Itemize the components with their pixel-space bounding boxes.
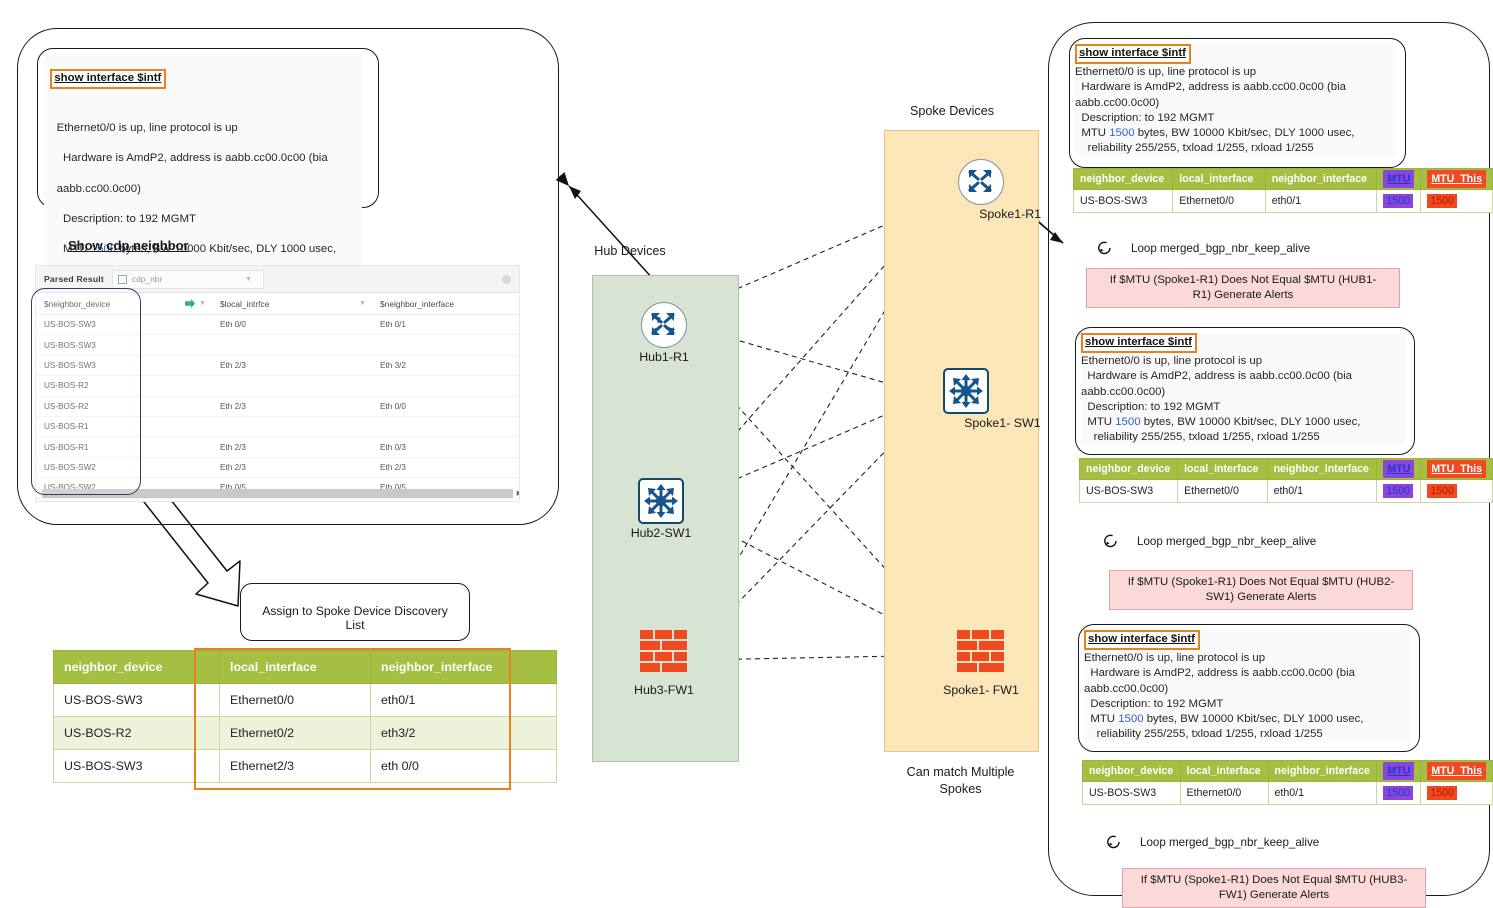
cli-line-4: Description: to 192 MGMT — [57, 213, 196, 225]
parsed-col-neighbor-interface[interactable]: $neighbor_interface ▼ — [372, 299, 520, 309]
th-neighbor-interface: neighbor_interface — [371, 651, 557, 684]
parsed-cell: Eth 2/3 — [212, 361, 372, 370]
cli-command-right[interactable]: show interface $intf — [1081, 333, 1197, 353]
parsed-cell: Eth 2/3 — [212, 463, 372, 472]
loop-icon — [1095, 238, 1115, 258]
td-mtu-this: 1500 — [1421, 782, 1493, 805]
chevron-down-icon[interactable]: ▼ — [359, 300, 366, 307]
mtu-comparison-table: neighbor_devicelocal_interfaceneighbor_i… — [1073, 168, 1493, 213]
table-header-row: neighbor_devicelocal_interfaceneighbor_i… — [1080, 459, 1493, 480]
parsed-cell: Eth 2/3 — [212, 402, 372, 411]
node-hub2-sw1[interactable]: Hub2-SW1 — [638, 478, 684, 524]
parsed-col-label: $local_intrfce — [220, 299, 355, 309]
alert-line-2: FW1) Generate Alerts — [1219, 889, 1329, 901]
cli-mtu-value: 1500 — [1115, 416, 1140, 428]
spoke-note-line1: Can match Multiple — [884, 765, 1037, 779]
td-mtu: 1500 — [1377, 480, 1421, 503]
parsed-column-highlight — [31, 288, 141, 495]
th-mtu-this: MTU_This — [1421, 761, 1493, 782]
node-hub1-r1[interactable]: Hub1-R1 — [641, 302, 687, 348]
parsed-cell: Eth 2/3 — [212, 443, 372, 452]
cli-body: Ethernet0/0 is up, line protocol is up H… — [1081, 354, 1405, 445]
parsed-cell: Eth 0/0 — [372, 402, 520, 411]
cli-output-right: show interface $intfEthernet0/0 is up, l… — [1081, 333, 1405, 445]
table-cell: US-BOS-SW3 — [1083, 782, 1181, 805]
td-mtu-this: 1500 — [1421, 190, 1493, 213]
th-local-interface: local_interface — [1173, 169, 1265, 190]
table-cell: eth0/1 — [371, 684, 557, 717]
parsed-cell: Eth 0/0 — [212, 320, 372, 329]
cli-command-left[interactable]: show interface $intf — [50, 69, 166, 89]
cli-line-3: aabb.cc00.0c00) — [57, 183, 141, 195]
table-cell: US-BOS-SW3 — [54, 684, 220, 717]
parsed-result-select[interactable]: cdp_nbr ▼ — [112, 270, 264, 289]
th-neighbor-device: neighbor_device — [54, 651, 220, 684]
node-label: Spoke1- FW1 — [943, 683, 1019, 697]
mtu-mismatch-alert: If $MTU (Spoke1-R1) Does Not Equal $MTU … — [1109, 570, 1413, 610]
td-mtu-this: 1500 — [1421, 480, 1493, 503]
cli-line-1: Ethernet0/0 is up, line protocol is up — [57, 122, 238, 134]
alert-line-1: If $MTU (Spoke1-R1) Does Not Equal $MTU … — [1110, 274, 1377, 286]
cli-line-2: Hardware is AmdP2, address is aabb.cc00.… — [57, 152, 328, 164]
table-cell: US-BOS-SW3 — [1080, 480, 1178, 503]
table-header-row: neighbor_devicelocal_interfaceneighbor_i… — [1083, 761, 1493, 782]
cli-body: Ethernet0/0 is up, line protocol is up H… — [1075, 65, 1396, 156]
table-row: US-BOS-SW3Ethernet0/0eth0/115001500 — [1080, 480, 1493, 503]
td-mtu: 1500 — [1377, 782, 1421, 805]
switch-icon — [943, 368, 989, 414]
th-neighbor-interface: neighbor_interface — [1268, 761, 1377, 782]
spoke-discovery-table: neighbor_device local_interface neighbor… — [53, 650, 557, 783]
th-mtu-this: MTU_This — [1421, 169, 1493, 190]
parsed-cell: Eth 2/3 — [372, 463, 520, 472]
table-cell: eth3/2 — [371, 717, 557, 750]
th-mtu: MTU — [1377, 761, 1421, 782]
node-label: Spoke1-R1 — [979, 207, 1041, 221]
table-cell: Ethernet2/3 — [220, 750, 371, 783]
chevron-down-icon[interactable]: ▼ — [517, 300, 520, 307]
spoke-devices-label: Spoke Devices — [882, 104, 1022, 118]
table-cell: eth0/1 — [1267, 480, 1377, 503]
loop-row: Loop merged_bgp_nbr_keep_alive — [1101, 531, 1316, 551]
table-cell: eth 0/0 — [371, 750, 557, 783]
table-cell: US-BOS-SW3 — [54, 750, 220, 783]
th-local-interface: local_interface — [1178, 459, 1267, 480]
table-cell: Ethernet0/0 — [1178, 480, 1267, 503]
cli-command-right[interactable]: show interface $intf — [1084, 630, 1200, 650]
table-cell: Ethernet0/2 — [220, 717, 371, 750]
cli-body: Ethernet0/0 is up, line protocol is up H… — [1084, 651, 1410, 742]
parsed-cell: Eth 3/2 — [372, 361, 520, 370]
table-row: US-BOS-SW3Ethernet0/0eth0/1 — [54, 684, 557, 717]
th-mtu: MTU — [1377, 459, 1421, 480]
td-mtu: 1500 — [1377, 190, 1421, 213]
th-neighbor-interface: neighbor_interface — [1265, 169, 1377, 190]
parsed-col-label: $neighbor_interface — [380, 299, 513, 309]
switch-arrows-icon — [945, 370, 987, 412]
alert-line-1: If $MTU (Spoke1-R1) Does Not Equal $MTU … — [1141, 874, 1408, 886]
node-label: Hub1-R1 — [639, 350, 689, 364]
loop-icon — [1104, 832, 1124, 852]
table-cell: US-BOS-R2 — [54, 717, 220, 750]
cli-output-right: show interface $intfEthernet0/0 is up, l… — [1084, 630, 1410, 742]
node-spoke1-sw1[interactable]: Spoke1- SW1 — [943, 368, 989, 414]
firewall-icon — [638, 628, 690, 676]
th-neighbor-device: neighbor_device — [1080, 459, 1178, 480]
table-cell: Ethernet0/0 — [220, 684, 371, 717]
loop-label: Loop merged_bgp_nbr_keep_alive — [1140, 836, 1319, 849]
alert-line-2: SW1) Generate Alerts — [1206, 591, 1317, 603]
cli-command-right[interactable]: show interface $intf — [1075, 44, 1191, 64]
parsed-result-title: Parsed Result — [44, 274, 104, 284]
node-label: Spoke1- SW1 — [964, 416, 1040, 430]
table-header-row: neighbor_devicelocal_interfaceneighbor_i… — [1074, 169, 1493, 190]
table-row: US-BOS-SW3Ethernet0/0eth0/115001500 — [1074, 190, 1493, 213]
switch-icon — [638, 478, 684, 524]
node-hub3-fw1[interactable]: Hub3-FW1 — [638, 628, 690, 681]
node-spoke1-fw1[interactable]: Spoke1- FW1 — [955, 628, 1007, 681]
mtu-comparison-table: neighbor_devicelocal_interfaceneighbor_i… — [1079, 458, 1493, 503]
parsed-cell: Eth 0/3 — [372, 443, 520, 452]
cli-mtu-value: 1500 — [1109, 127, 1134, 139]
spoke-note-line2: Spokes — [884, 782, 1037, 796]
alert-line-2: R1) Generate Alerts — [1193, 289, 1294, 301]
table-header-row: neighbor_device local_interface neighbor… — [54, 651, 557, 684]
loop-row: Loop merged_bgp_nbr_keep_alive — [1104, 832, 1319, 852]
cli-output-right: show interface $intfEthernet0/0 is up, l… — [1075, 44, 1396, 156]
router-arrows-icon — [959, 160, 1001, 202]
table-cell: US-BOS-SW3 — [1074, 190, 1173, 213]
filter-tag-icon — [185, 299, 195, 308]
parsed-col-local-intrfce[interactable]: $local_intrfce ▼ — [212, 299, 372, 309]
node-spoke1-r1[interactable]: Spoke1-R1 — [958, 159, 1004, 205]
alert-line-1: If $MTU (Spoke1-R1) Does Not Equal $MTU … — [1128, 576, 1395, 588]
switch-arrows-icon — [640, 480, 682, 522]
grid-icon — [118, 275, 127, 284]
th-neighbor-interface: neighbor_interface — [1267, 459, 1377, 480]
table-cell: Ethernet0/0 — [1173, 190, 1265, 213]
scroll-right-icon[interactable]: ▶ — [517, 489, 520, 497]
assign-note-text: Assign to Spoke Device Discovery List — [252, 604, 458, 632]
table-cell: eth0/1 — [1268, 782, 1377, 805]
table-row: US-BOS-SW3Ethernet2/3eth 0/0 — [54, 750, 557, 783]
loop-label: Loop merged_bgp_nbr_keep_alive — [1137, 535, 1316, 548]
th-mtu: MTU — [1377, 169, 1421, 190]
router-arrows-icon — [642, 303, 684, 345]
mtu-mismatch-alert: If $MTU (Spoke1-R1) Does Not Equal $MTU … — [1086, 268, 1400, 308]
cli-mtu-value: 1500 — [1118, 713, 1143, 725]
th-neighbor-device: neighbor_device — [1074, 169, 1173, 190]
table-row: US-BOS-SW3Ethernet0/0eth0/115001500 — [1083, 782, 1493, 805]
loop-row: Loop merged_bgp_nbr_keep_alive — [1095, 238, 1310, 258]
chevron-down-icon[interactable]: ▼ — [199, 300, 206, 307]
loop-label: Loop merged_bgp_nbr_keep_alive — [1131, 242, 1310, 255]
router-icon — [641, 302, 687, 348]
router-icon — [958, 159, 1004, 205]
hub-devices-label: Hub Devices — [560, 244, 700, 258]
th-mtu-this: MTU_This — [1421, 459, 1493, 480]
th-local-interface: local_interface — [1180, 761, 1268, 782]
table-cell: eth0/1 — [1265, 190, 1377, 213]
firewall-icon — [955, 628, 1007, 676]
mtu-comparison-table: neighbor_devicelocal_interfaceneighbor_i… — [1082, 760, 1493, 805]
parsed-result-selected: cdp_nbr — [132, 274, 240, 284]
table-cell: Ethernet0/0 — [1180, 782, 1268, 805]
node-label: Hub2-SW1 — [631, 526, 692, 540]
node-label: Hub3-FW1 — [634, 683, 694, 697]
th-neighbor-device: neighbor_device — [1083, 761, 1181, 782]
parsed-result-row[interactable]: US-BOS-SW2Eth 0/2Eth 0/2 — [36, 499, 519, 502]
settings-dot-icon[interactable] — [502, 275, 511, 284]
parsed-cell: Eth 0/1 — [372, 320, 520, 329]
mtu-mismatch-alert: If $MTU (Spoke1-R1) Does Not Equal $MTU … — [1122, 868, 1426, 908]
loop-icon — [1101, 531, 1121, 551]
th-local-interface: local_interface — [220, 651, 371, 684]
chevron-down-icon: ▼ — [245, 276, 252, 283]
table-row: US-BOS-R2Ethernet0/2eth3/2 — [54, 717, 557, 750]
cdp-neighbor-heading: Show cdp neighbor — [68, 238, 189, 253]
